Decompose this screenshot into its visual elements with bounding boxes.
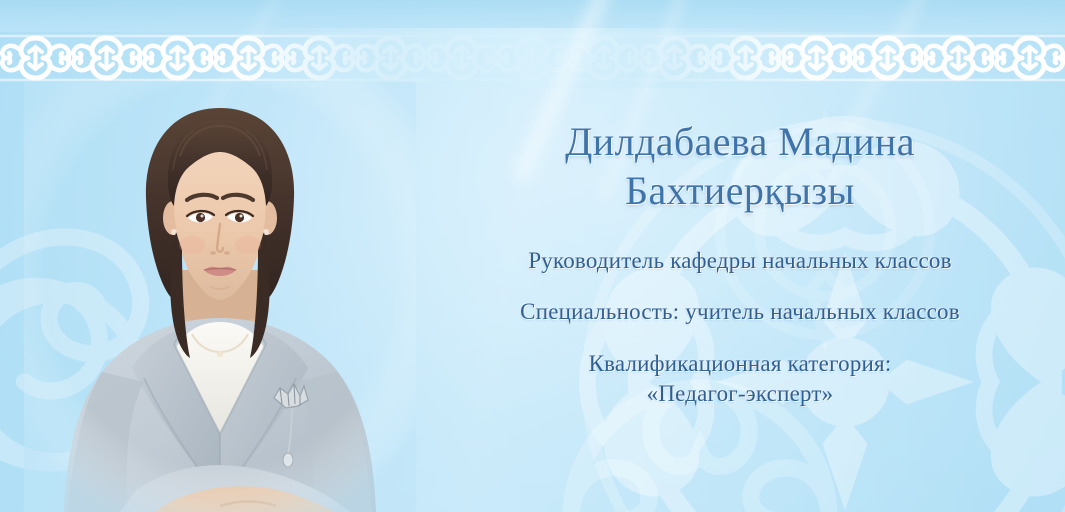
- portrait-photo: [24, 82, 416, 512]
- ornament-band-fade: [0, 28, 1065, 88]
- person-name-line-2: Бахтиерқызы: [420, 167, 1060, 216]
- person-name-line-1: Дилдабаева Мадина: [565, 119, 915, 164]
- person-position: Руководитель кафедры начальных классов: [420, 246, 1060, 276]
- person-qualification: Квалификационная категория: «Педагог-экс…: [420, 349, 1060, 409]
- top-ornament-band: [0, 28, 1065, 88]
- person-name: Дилдабаева Мадина Бахтиерқызы: [420, 118, 1060, 216]
- slide-text-block: Дилдабаева Мадина Бахтиерқызы Руководите…: [420, 118, 1060, 409]
- person-specialty: Специальность: учитель начальных классов: [420, 297, 1060, 327]
- qualification-label: Квалификационная категория:: [589, 351, 892, 376]
- qualification-value: «Педагог-эксперт»: [420, 379, 1060, 409]
- presentation-slide: Дилдабаева Мадина Бахтиерқызы Руководите…: [0, 0, 1065, 512]
